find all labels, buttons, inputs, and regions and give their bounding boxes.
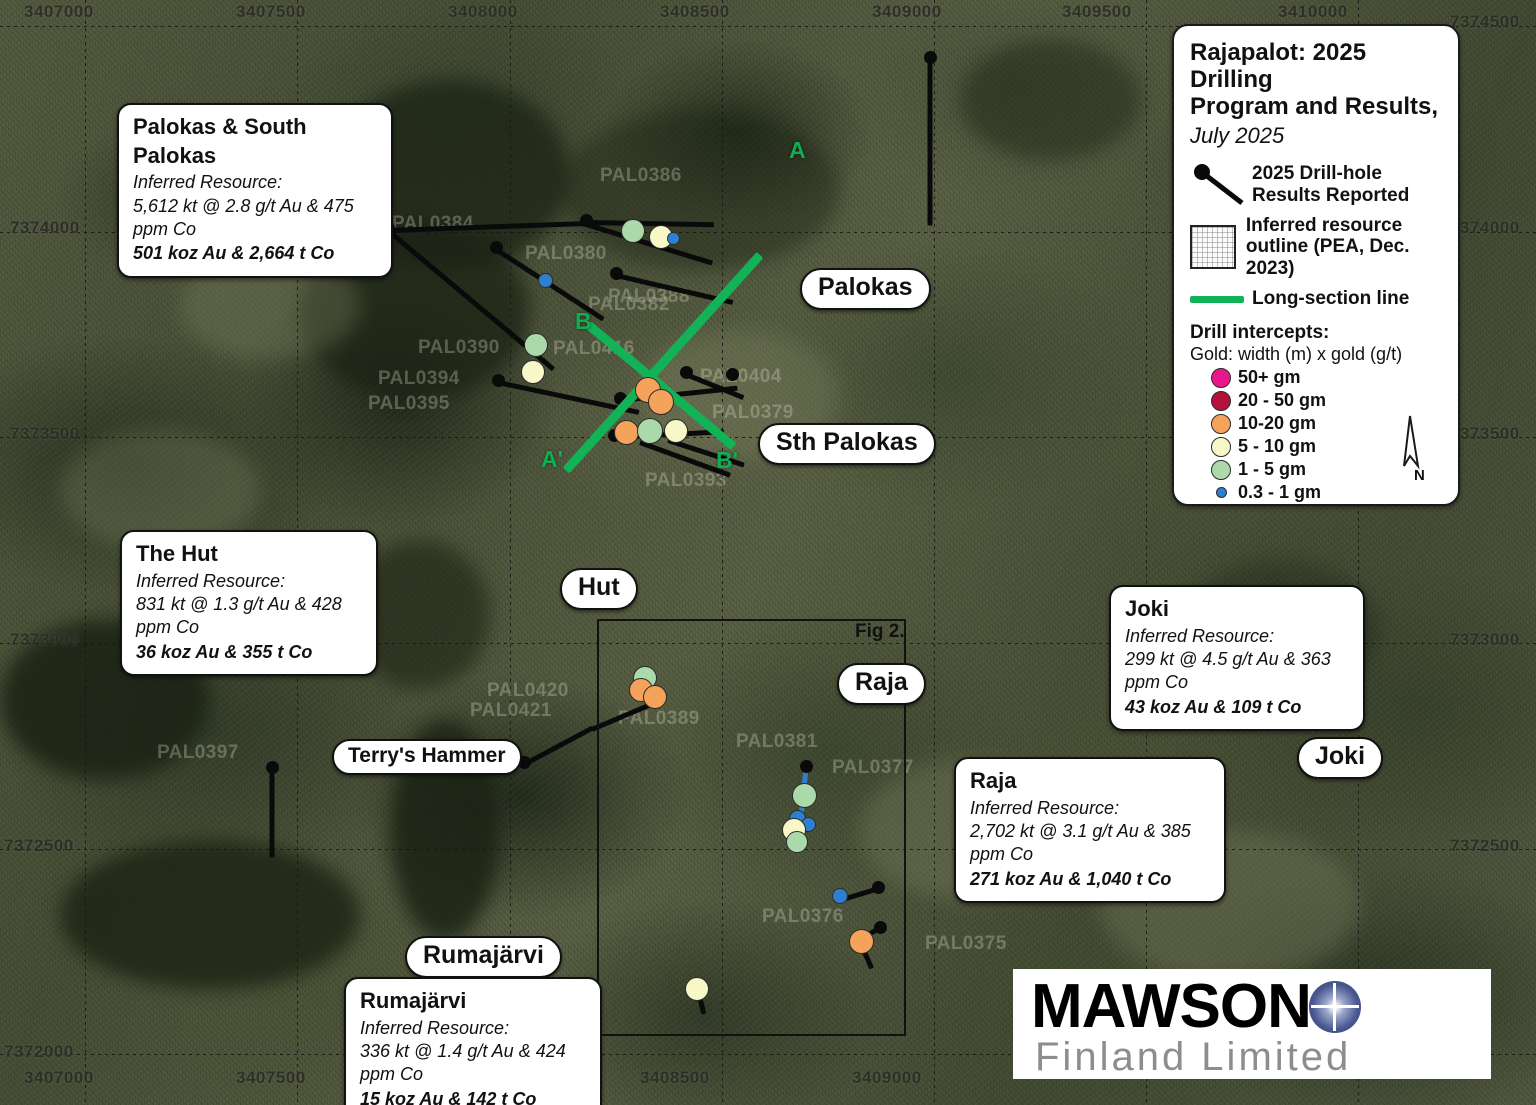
north-label: N — [1414, 467, 1425, 484]
hole-id-label: PAL0397 — [157, 742, 239, 764]
legend-intercepts-subheading: Gold: width (m) x gold (g/t) — [1190, 344, 1442, 365]
coord-label-easting: 3408500 — [640, 1068, 710, 1088]
coord-label-northing: 7374000 — [1450, 218, 1520, 238]
place-label-raja[interactable]: Raja — [837, 663, 926, 705]
coord-label-northing: 7372000 — [4, 1042, 74, 1062]
hole-id-label: PAL0390 — [418, 337, 500, 359]
resource-card-rumajarvi[interactable]: Rumajärvi Inferred Resource: 336 kt @ 1.… — [344, 977, 602, 1105]
intercept-marker — [538, 273, 553, 288]
hole-id-label: PAL0420 — [487, 680, 569, 702]
resource-card-hut[interactable]: The Hut Inferred Resource: 831 kt @ 1.3 … — [120, 530, 378, 676]
coord-label-easting: 3409000 — [852, 1068, 922, 1088]
legend-class-item: 20 - 50 gm — [1204, 390, 1442, 411]
hole-id-label: PAL0421 — [470, 700, 552, 722]
legend-longsection-label: Long-section line — [1252, 288, 1409, 310]
card-grade: 2,702 kt @ 3.1 g/t Au & 385 ppm Co — [970, 820, 1210, 867]
legend-resource-text: Inferred resource outline (PEA, Dec. 202… — [1246, 215, 1442, 281]
section-endpoint-label-Ap: A' — [541, 446, 563, 473]
card-subtitle: Inferred Resource: — [970, 797, 1210, 820]
coord-label-easting: 3407500 — [236, 2, 306, 22]
terrain-dark-patch — [60, 840, 360, 990]
map-figure: 3407000 3407500 3408000 3408500 3409000 … — [0, 0, 1536, 1105]
resource-card-palokas[interactable]: Palokas & South Palokas Inferred Resourc… — [117, 103, 393, 278]
legend-class-item: 0.3 - 1 gm — [1204, 482, 1442, 503]
section-endpoint-label-A: A — [789, 137, 806, 164]
coord-label-easting: 3409500 — [1062, 2, 1132, 22]
hole-id-label: PAL0379 — [712, 402, 794, 424]
section-endpoint-label-Bp: B' — [716, 447, 738, 474]
card-title: Joki — [1125, 595, 1349, 624]
intercept-marker — [637, 418, 663, 444]
coord-label-easting: 3408500 — [660, 2, 730, 22]
drill-collar — [492, 374, 505, 387]
card-subtitle: Inferred Resource: — [133, 171, 377, 194]
intercept-marker — [521, 360, 545, 384]
card-subtitle: Inferred Resource: — [136, 570, 362, 593]
drill-collar — [490, 241, 503, 254]
place-label-hut[interactable]: Hut — [560, 568, 638, 610]
resource-outline-icon — [1190, 225, 1246, 269]
hole-id-label: PAL0393 — [645, 470, 727, 492]
card-grade: 5,612 kt @ 2.8 g/t Au & 475 ppm Co — [133, 195, 377, 242]
place-label-rumajarvi[interactable]: Rumajärvi — [405, 936, 562, 978]
legend-resource-line2: outline (PEA, Dec. 2023) — [1246, 236, 1442, 280]
place-label-joki[interactable]: Joki — [1297, 737, 1383, 779]
coord-label-easting: 3407000 — [24, 2, 94, 22]
coord-label-northing: 7373500 — [1450, 424, 1520, 444]
fig2-label: Fig 2. — [855, 621, 905, 643]
drill-collar — [726, 368, 739, 381]
legend-class-label: 50+ gm — [1238, 367, 1301, 388]
card-subtitle: Inferred Resource: — [1125, 625, 1349, 648]
card-grade: 299 kt @ 4.5 g/t Au & 363 ppm Co — [1125, 648, 1349, 695]
intercept-marker — [664, 419, 688, 443]
legend-class-label: 1 - 5 gm — [1238, 459, 1306, 480]
drill-collar — [610, 267, 623, 280]
grid-line-vertical — [1146, 0, 1147, 1105]
drill-trace — [270, 770, 275, 858]
legend-class-swatch — [1204, 437, 1238, 457]
legend-date: July 2025 — [1190, 123, 1442, 149]
coord-label-easting: 3407500 — [236, 1068, 306, 1088]
coord-label-easting: 3409000 — [872, 2, 942, 22]
hole-id-label: PAL0380 — [525, 243, 607, 265]
legend-class-label: 5 - 10 gm — [1238, 436, 1316, 457]
drill-hole-icon — [1190, 163, 1252, 207]
intercept-marker — [524, 333, 548, 357]
long-section-icon — [1190, 296, 1252, 303]
place-label-palokas[interactable]: Palokas — [800, 268, 931, 310]
drill-trace — [928, 60, 933, 226]
coord-label-northing: 7373500 — [10, 424, 80, 444]
drill-collar — [924, 51, 937, 64]
legend-resource-line1: Inferred resource — [1246, 215, 1442, 237]
logo-globe-icon — [1309, 981, 1361, 1033]
legend-intercepts-heading: Drill intercepts: — [1190, 322, 1442, 344]
card-subtitle: Inferred Resource: — [360, 1017, 586, 1040]
coord-label-easting: 3408000 — [448, 2, 518, 22]
intercept-marker — [621, 219, 645, 243]
legend-drillhole-line2: Results Reported — [1252, 185, 1409, 207]
legend-class-label: 10-20 gm — [1238, 413, 1316, 434]
legend-class-item: 50+ gm — [1204, 367, 1442, 388]
legend-entry-drillhole: 2025 Drill-hole Results Reported — [1190, 163, 1442, 207]
section-endpoint-label-B: B — [575, 308, 592, 335]
logo-wordmark: MAWSON — [1031, 971, 1311, 1042]
logo-subtitle: Finland Limited — [1035, 1035, 1351, 1080]
north-arrow-icon: N — [1388, 412, 1442, 484]
card-grade: 336 kt @ 1.4 g/t Au & 424 ppm Co — [360, 1040, 586, 1087]
legend-class-swatch — [1204, 487, 1238, 498]
legend-class-swatch — [1204, 460, 1238, 480]
intercept-marker — [667, 232, 680, 245]
legend-class-swatch — [1204, 391, 1238, 411]
legend-class-label: 0.3 - 1 gm — [1238, 482, 1321, 503]
card-title: Palokas & South Palokas — [133, 113, 377, 170]
resource-card-raja[interactable]: Raja Inferred Resource: 2,702 kt @ 3.1 g… — [954, 757, 1226, 903]
card-grade: 831 kt @ 1.3 g/t Au & 428 ppm Co — [136, 593, 362, 640]
legend-title-line1: Rajapalot: 2025 Drilling — [1190, 40, 1442, 94]
map-legend[interactable]: Rajapalot: 2025 Drilling Program and Res… — [1172, 24, 1460, 506]
coord-label-easting: 3407000 — [24, 1068, 94, 1088]
card-title: The Hut — [136, 540, 362, 569]
card-title: Raja — [970, 767, 1210, 796]
legend-class-swatch — [1204, 414, 1238, 434]
legend-entry-longsection: Long-section line — [1190, 288, 1442, 310]
drill-collar — [266, 761, 279, 774]
intercept-marker — [614, 420, 639, 445]
card-total: 36 koz Au & 355 t Co — [136, 641, 362, 664]
place-label-terrys-hammer[interactable]: Terry's Hammer — [332, 739, 522, 775]
intercept-marker — [648, 389, 674, 415]
legend-class-label: 20 - 50 gm — [1238, 390, 1326, 411]
place-label-sth-palokas[interactable]: Sth Palokas — [758, 423, 936, 465]
mawson-logo: MAWSON Finland Limited — [1013, 969, 1491, 1079]
coord-label-northing: 7372500 — [4, 836, 74, 856]
legend-class-swatch — [1204, 368, 1238, 388]
drill-collar — [680, 366, 693, 379]
coord-label-northing: 7372500 — [1450, 836, 1520, 856]
legend-drillhole-text: 2025 Drill-hole Results Reported — [1252, 163, 1409, 207]
grid-line-vertical — [85, 0, 86, 1105]
legend-drillhole-line1: 2025 Drill-hole — [1252, 163, 1409, 185]
coord-label-northing: 7373000 — [1450, 630, 1520, 650]
card-total: 43 koz Au & 109 t Co — [1125, 696, 1349, 719]
card-total: 501 koz Au & 2,664 t Co — [133, 242, 377, 265]
coord-label-easting: 3410000 — [1278, 2, 1348, 22]
hole-id-label: PAL0386 — [600, 165, 682, 187]
legend-title-line2: Program and Results, — [1190, 94, 1442, 121]
terrain-dark-patch — [960, 40, 1140, 160]
hole-id-label: PAL0394 — [378, 368, 460, 390]
card-total: 15 koz Au & 142 t Co — [360, 1088, 586, 1105]
hole-id-label: PAL0382 — [588, 294, 670, 316]
coord-label-northing: 7373000 — [10, 630, 80, 650]
card-total: 271 koz Au & 1,040 t Co — [970, 868, 1210, 891]
resource-card-joki[interactable]: Joki Inferred Resource: 299 kt @ 4.5 g/t… — [1109, 585, 1365, 731]
hole-id-label: PAL0395 — [368, 393, 450, 415]
legend-entry-resource: Inferred resource outline (PEA, Dec. 202… — [1190, 215, 1442, 281]
coord-label-northing: 7374000 — [10, 218, 80, 238]
hole-id-label: PAL0375 — [925, 933, 1007, 955]
card-title: Rumajärvi — [360, 987, 586, 1016]
coord-label-northing: 7374500 — [1450, 12, 1520, 32]
